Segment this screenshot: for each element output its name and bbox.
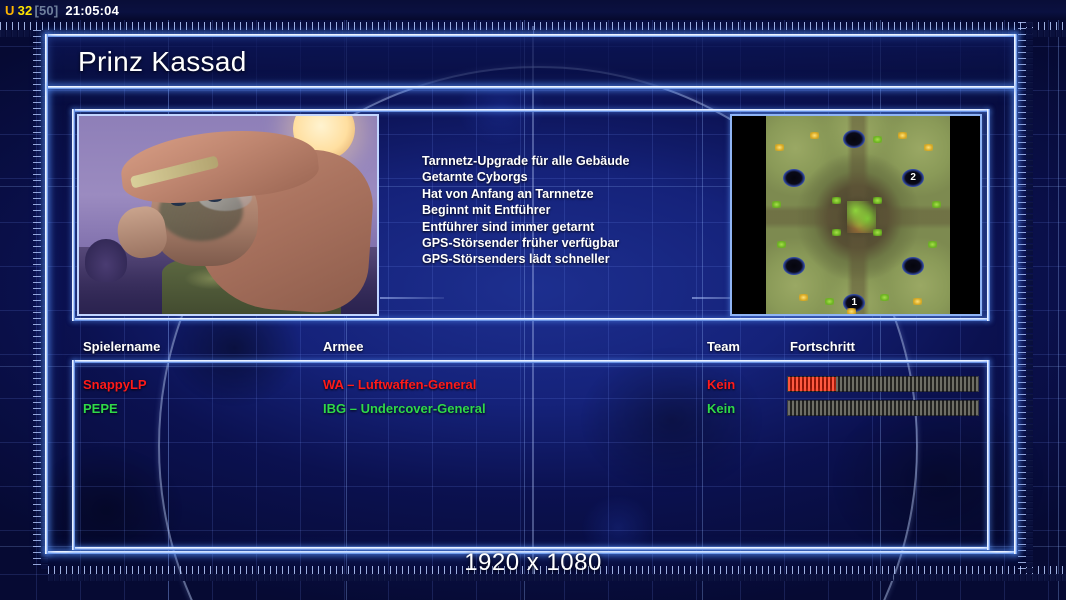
page-title: Prinz Kassad [78,46,247,78]
map-resource-marker [825,298,834,305]
ability-line: Entführer sind immer getarnt [422,219,752,235]
progress-bar-fill [788,377,836,391]
details-border-top [72,109,990,112]
map-resource-marker [928,241,937,248]
panel-header-divider [48,86,1014,89]
map-start-position [783,257,805,275]
general-portrait [77,114,379,316]
cell-army: IBG – Undercover-General [323,401,486,416]
map-resource-marker [924,144,933,151]
map-resource-marker [775,144,784,151]
map-resource-marker [832,229,841,236]
player-list-box: SnappyLPWA – Luftwaffen-GeneralKeinPEPEI… [72,360,990,550]
map-resource-marker [932,201,941,208]
ruler-right [1018,22,1033,574]
player-list-border-top [72,360,990,363]
map-preview[interactable]: 21 [730,114,982,316]
map-resource-marker [799,294,808,301]
ability-line: GPS-Störsender früher verfügbar [422,235,752,251]
ability-line: Getarnte Cyborgs [422,169,752,185]
status-clock: 21:05:04 [65,3,119,18]
details-divider-left [380,297,444,299]
map-start-position [783,169,805,187]
map-resource-marker [832,197,841,204]
status-unit-max: [50] [34,3,58,18]
column-header-team: Team [707,339,740,354]
details-border-bottom [72,318,990,321]
map-resource-marker [873,136,882,143]
cell-team: Kein [707,401,735,416]
player-list-border-right [987,360,990,550]
ability-line: GPS-Störsenders lädt schneller [422,251,752,267]
details-border-left [72,109,75,321]
cell-team: Kein [707,377,735,392]
map-resource-marker [777,241,786,248]
map-resource-marker [873,197,882,204]
details-border-right [987,109,990,321]
progress-bar [787,400,979,416]
general-details-box: Tarnnetz-Upgrade für alle GebäudeGetarnt… [72,109,990,321]
cell-army: WA – Luftwaffen-General [323,377,476,392]
ability-line: Beginnt mit Entführer [422,202,752,218]
status-unit-count: 32 [18,3,33,18]
map-resource-marker [873,229,882,236]
panel-border-left [45,34,48,554]
column-header-progress: Fortschritt [790,339,855,354]
resolution-label: 1920 x 1080 [0,549,1066,577]
status-unit-prefix: U [5,3,15,18]
player-table-header: Spielername Armee Team Fortschritt [75,339,995,357]
map-start-position: 2 [902,169,924,187]
cell-player-name: PEPE [83,401,118,416]
general-ability-list: Tarnnetz-Upgrade für alle GebäudeGetarnt… [422,153,752,268]
map-preview-image: 21 [766,116,950,316]
map-resource-marker [772,201,781,208]
table-row[interactable]: SnappyLPWA – Luftwaffen-GeneralKein [75,374,987,398]
map-resource-marker [847,308,856,315]
ability-line: Hat von Anfang an Tarnnetze [422,186,752,202]
map-resource-marker [898,132,907,139]
map-resource-marker [810,132,819,139]
ability-line: Tarnnetz-Upgrade für alle Gebäude [422,153,752,169]
cell-player-name: SnappyLP [83,377,147,392]
status-bar: U 32 [50] 21:05:04 [0,0,1066,20]
panel-border-right [1014,34,1017,554]
column-header-army: Armee [323,339,363,354]
column-header-player-name: Spielername [83,339,160,354]
map-resource-marker [880,294,889,301]
progress-bar [787,376,979,392]
panel-header: Prinz Kassad [48,37,1014,86]
table-row[interactable]: PEPEIBG – Undercover-GeneralKein [75,398,987,422]
map-resource-marker [913,298,922,305]
general-info-panel: Prinz Kassad Tarnnetz-Upgrade für alle G… [45,34,1017,554]
